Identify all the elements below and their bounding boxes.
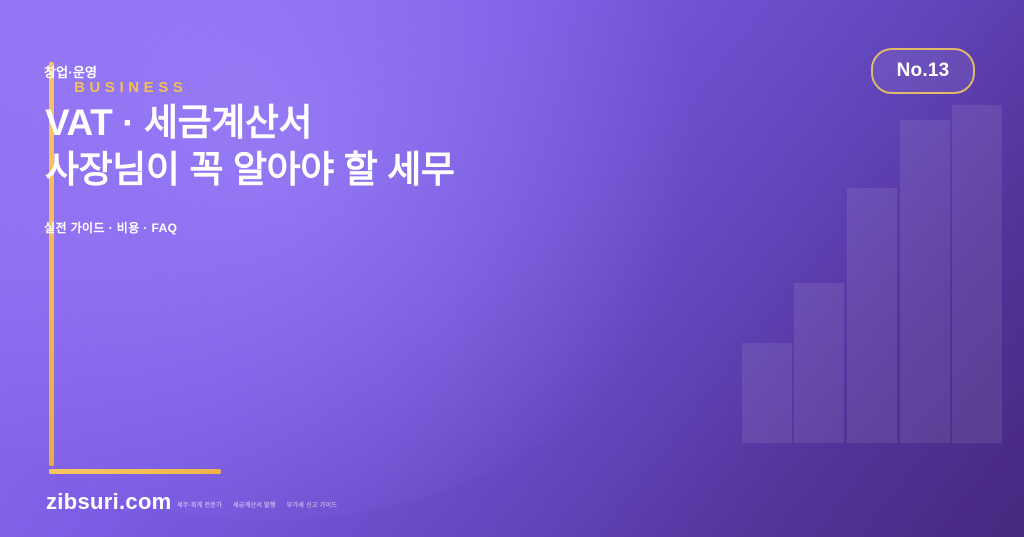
brand-subnote-item: 세무·회계 전문가 xyxy=(177,503,222,509)
headline-line-1: VAT · 세금계산서 xyxy=(45,102,312,143)
brand-subnote-item: 세금계산서 발행 xyxy=(233,503,276,509)
headline-line-2: 사장님이 꼭 알아야 할 세무 xyxy=(45,147,685,194)
chart-bar xyxy=(794,283,844,443)
kicker-english: BUSINESS xyxy=(74,79,188,96)
light-bloom-decoration xyxy=(0,0,720,520)
brand-subnote-item: 부가세 신고 가이드 xyxy=(287,503,338,509)
subtitle: 실전 가이드 · 비용 · FAQ xyxy=(44,219,177,236)
badge-label: No.13 xyxy=(897,60,950,82)
decorative-bar-chart xyxy=(742,60,1004,443)
horizontal-accent-rule xyxy=(49,469,221,474)
chart-bar xyxy=(900,120,950,443)
page-title: VAT · 세금계산서 사장님이 꼭 알아야 할 세무 xyxy=(45,100,685,194)
status-badge: No.13 xyxy=(871,48,975,94)
brand-wordmark: zibsuri.com xyxy=(46,489,172,515)
chart-bar xyxy=(952,105,1002,443)
promo-banner: 창업·운영 BUSINESS VAT · 세금계산서 사장님이 꼭 알아야 할 … xyxy=(0,0,1024,537)
chart-bar xyxy=(847,188,897,443)
brand-subnote: 세무·회계 전문가 세금계산서 발행 부가세 신고 가이드 xyxy=(177,500,346,509)
chart-bar xyxy=(742,343,792,443)
